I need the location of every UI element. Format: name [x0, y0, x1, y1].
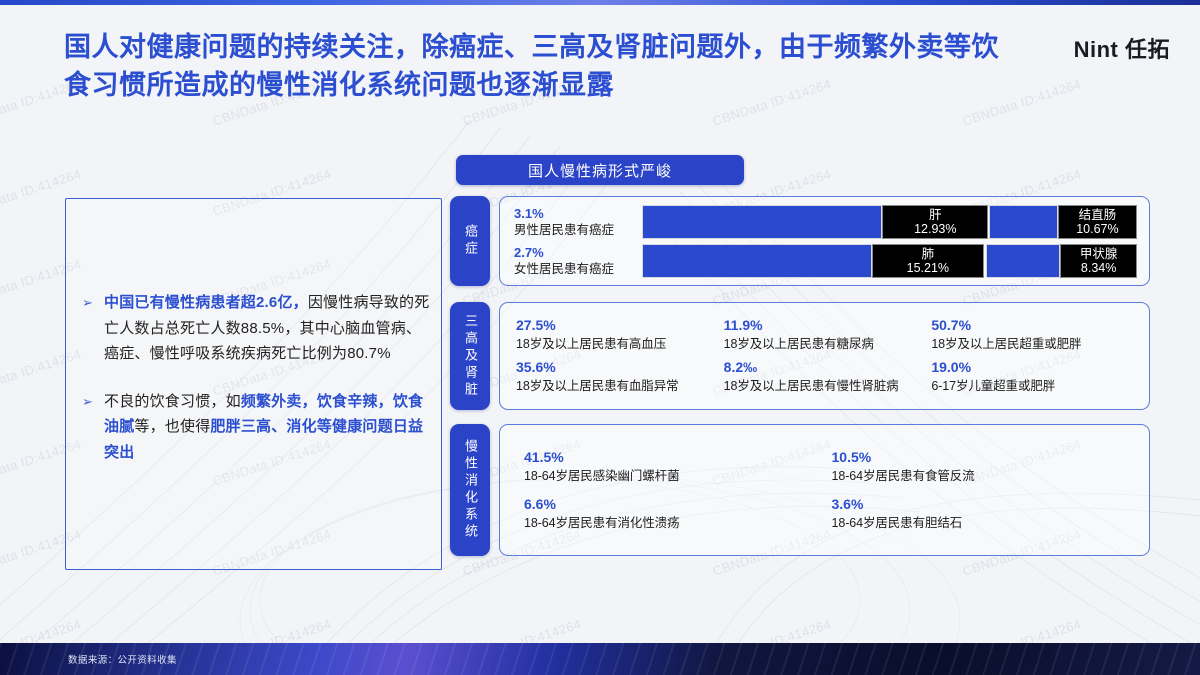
stat-cell: 10.5%18-64岁居民患有食管反流 [832, 447, 1140, 494]
page-title: 国人对健康问题的持续关注，除癌症、三高及肾脏问题外，由于频繁外卖等饮食习惯所造成… [64, 28, 1014, 104]
tab-digestive-label: 慢性消化系统 [461, 439, 479, 541]
section-header-chip: 国人慢性病形式严峻 [456, 155, 744, 185]
tab-digestive[interactable]: 慢性消化系统 [450, 424, 490, 556]
brand-logo: Nint 任拓 [1074, 32, 1170, 64]
cancer-prevalence: 3.1% [514, 206, 634, 222]
stat-label: 18-64岁居民患有胆结石 [832, 514, 1140, 533]
panel-metabolic: 27.5%18岁及以上居民患有高血压11.9%18岁及以上居民患有糖尿病50.7… [499, 302, 1150, 410]
stat-label: 18岁及以上居民超重或肥胖 [931, 335, 1139, 354]
bullet-plain: 不良的饮食习惯，如 [104, 393, 241, 410]
bullet-item: ➢中国已有慢性病患者超2.6亿，因慢性病导致的死亡人数占总死亡人数88.5%，其… [80, 290, 430, 367]
stat-label: 6-17岁儿童超重或肥胖 [931, 377, 1139, 396]
bar-segment-blue [989, 205, 1058, 239]
bar-segment-labeled: 肝12.93% [882, 205, 988, 239]
bar-segment-name: 结直肠 [1079, 208, 1117, 222]
section-digestive: 慢性消化系统 41.5%18-64岁居民感染幽门螺杆菌10.5%18-64岁居民… [450, 424, 1150, 556]
bar-segment-labeled: 肺15.21% [872, 244, 983, 278]
stat-value: 11.9% [724, 315, 932, 335]
stat-value: 8.2‰ [724, 357, 932, 377]
bar-segment-value: 15.21% [907, 261, 949, 276]
stat-label: 18岁及以上居民患有慢性肾脏病 [724, 377, 932, 396]
panel-cancer: 3.1%男性居民患有癌症肝12.93%结直肠10.67%2.7%女性居民患有癌症… [499, 196, 1150, 286]
section-metabolic: 三高及肾脏 27.5%18岁及以上居民患有高血压11.9%18岁及以上居民患有糖… [450, 302, 1150, 410]
stat-cell: 35.6%18岁及以上居民患有血脂异常 [516, 357, 724, 399]
stat-value: 50.7% [931, 315, 1139, 335]
bullet-text: 中国已有慢性病患者超2.6亿，因慢性病导致的死亡人数占总死亡人数88.5%，其中… [104, 290, 430, 367]
panel-digestive: 41.5%18-64岁居民感染幽门螺杆菌10.5%18-64岁居民患有食管反流6… [499, 424, 1150, 556]
stat-value: 6.6% [524, 494, 832, 514]
bar-segment-name: 肝 [929, 208, 942, 222]
cancer-row: 2.7%女性居民患有癌症肺15.21%甲状腺8.34% [514, 242, 1137, 280]
cancer-description: 女性居民患有癌症 [514, 261, 634, 277]
bullet-item: ➢不良的饮食习惯，如频繁外卖，饮食辛辣，饮食油腻等，也使得肥胖三高、消化等健康问… [80, 389, 430, 466]
bar-segment-blue [986, 244, 1060, 278]
stat-cell: 27.5%18岁及以上居民患有高血压 [516, 315, 724, 357]
stat-cell: 3.6%18-64岁居民患有胆结石 [832, 494, 1140, 541]
stat-label: 18-64岁居民感染幽门螺杆菌 [524, 467, 832, 486]
bar-segment-blue [642, 244, 872, 278]
stat-value: 41.5% [524, 447, 832, 467]
stat-label: 18岁及以上居民患有血脂异常 [516, 377, 724, 396]
stat-cell: 6.6%18-64岁居民患有消化性溃疡 [524, 494, 832, 541]
tab-metabolic[interactable]: 三高及肾脏 [450, 302, 490, 410]
stat-cell: 19.0%6-17岁儿童超重或肥胖 [931, 357, 1139, 399]
section-cancer: 癌症 3.1%男性居民患有癌症肝12.93%结直肠10.67%2.7%女性居民患… [450, 196, 1150, 286]
data-source-note: 数据来源：公开资料收集 [68, 652, 177, 666]
cancer-description: 男性居民患有癌症 [514, 222, 634, 238]
stat-value: 35.6% [516, 357, 724, 377]
bullet-marker-icon: ➢ [80, 290, 104, 367]
stat-label: 18-64岁居民患有消化性溃疡 [524, 514, 832, 533]
slide-canvas: CBNData ID:414264CBNData ID:414264CBNDat… [0, 0, 1200, 675]
tab-cancer-label: 癌症 [461, 224, 479, 258]
bullet-marker-icon: ➢ [80, 389, 104, 466]
stat-cell: 50.7%18岁及以上居民超重或肥胖 [931, 315, 1139, 357]
stat-label: 18岁及以上居民患有糖尿病 [724, 335, 932, 354]
cancer-row-label: 2.7%女性居民患有癌症 [514, 245, 634, 277]
bar-segment-labeled: 结直肠10.67% [1058, 205, 1137, 239]
bullet-text: 不良的饮食习惯，如频繁外卖，饮食辛辣，饮食油腻等，也使得肥胖三高、消化等健康问题… [104, 389, 430, 466]
stat-cell: 8.2‰18岁及以上居民患有慢性肾脏病 [724, 357, 932, 399]
bullet-list: ➢中国已有慢性病患者超2.6亿，因慢性病导致的死亡人数占总死亡人数88.5%，其… [80, 290, 430, 487]
stat-label: 18岁及以上居民患有高血压 [516, 335, 724, 354]
stat-cell: 41.5%18-64岁居民感染幽门螺杆菌 [524, 447, 832, 494]
digestive-grid: 41.5%18-64岁居民感染幽门螺杆菌10.5%18-64岁居民患有食管反流6… [500, 425, 1149, 555]
bar-segment-labeled: 甲状腺8.34% [1060, 244, 1137, 278]
cancer-bar-track: 肺15.21%甲状腺8.34% [642, 244, 1137, 278]
cancer-prevalence: 2.7% [514, 245, 634, 261]
tab-cancer[interactable]: 癌症 [450, 196, 490, 286]
stat-value: 3.6% [832, 494, 1140, 514]
stat-value: 10.5% [832, 447, 1140, 467]
stat-value: 27.5% [516, 315, 724, 335]
bar-segment-name: 甲状腺 [1080, 247, 1118, 261]
metabolic-grid: 27.5%18岁及以上居民患有高血压11.9%18岁及以上居民患有糖尿病50.7… [500, 303, 1149, 409]
bar-segment-value: 12.93% [914, 222, 956, 237]
stat-cell: 11.9%18岁及以上居民患有糖尿病 [724, 315, 932, 357]
stat-value: 19.0% [931, 357, 1139, 377]
bar-segment-value: 10.67% [1076, 222, 1118, 237]
footer-bar: 数据来源：公开资料收集 [0, 643, 1200, 675]
tab-metabolic-label: 三高及肾脏 [461, 314, 479, 399]
stat-label: 18-64岁居民患有食管反流 [832, 467, 1140, 486]
cancer-row: 3.1%男性居民患有癌症肝12.93%结直肠10.67% [514, 203, 1137, 241]
top-accent-bar [0, 0, 1200, 5]
bar-segment-name: 肺 [922, 247, 935, 261]
bullet-highlight: 中国已有慢性病患者超2.6亿， [104, 294, 308, 311]
cancer-row-label: 3.1%男性居民患有癌症 [514, 206, 634, 238]
bullet-plain: 等，也使得 [134, 418, 210, 435]
bar-segment-blue [642, 205, 882, 239]
cancer-bar-track: 肝12.93%结直肠10.67% [642, 205, 1137, 239]
bar-segment-value: 8.34% [1081, 261, 1116, 276]
